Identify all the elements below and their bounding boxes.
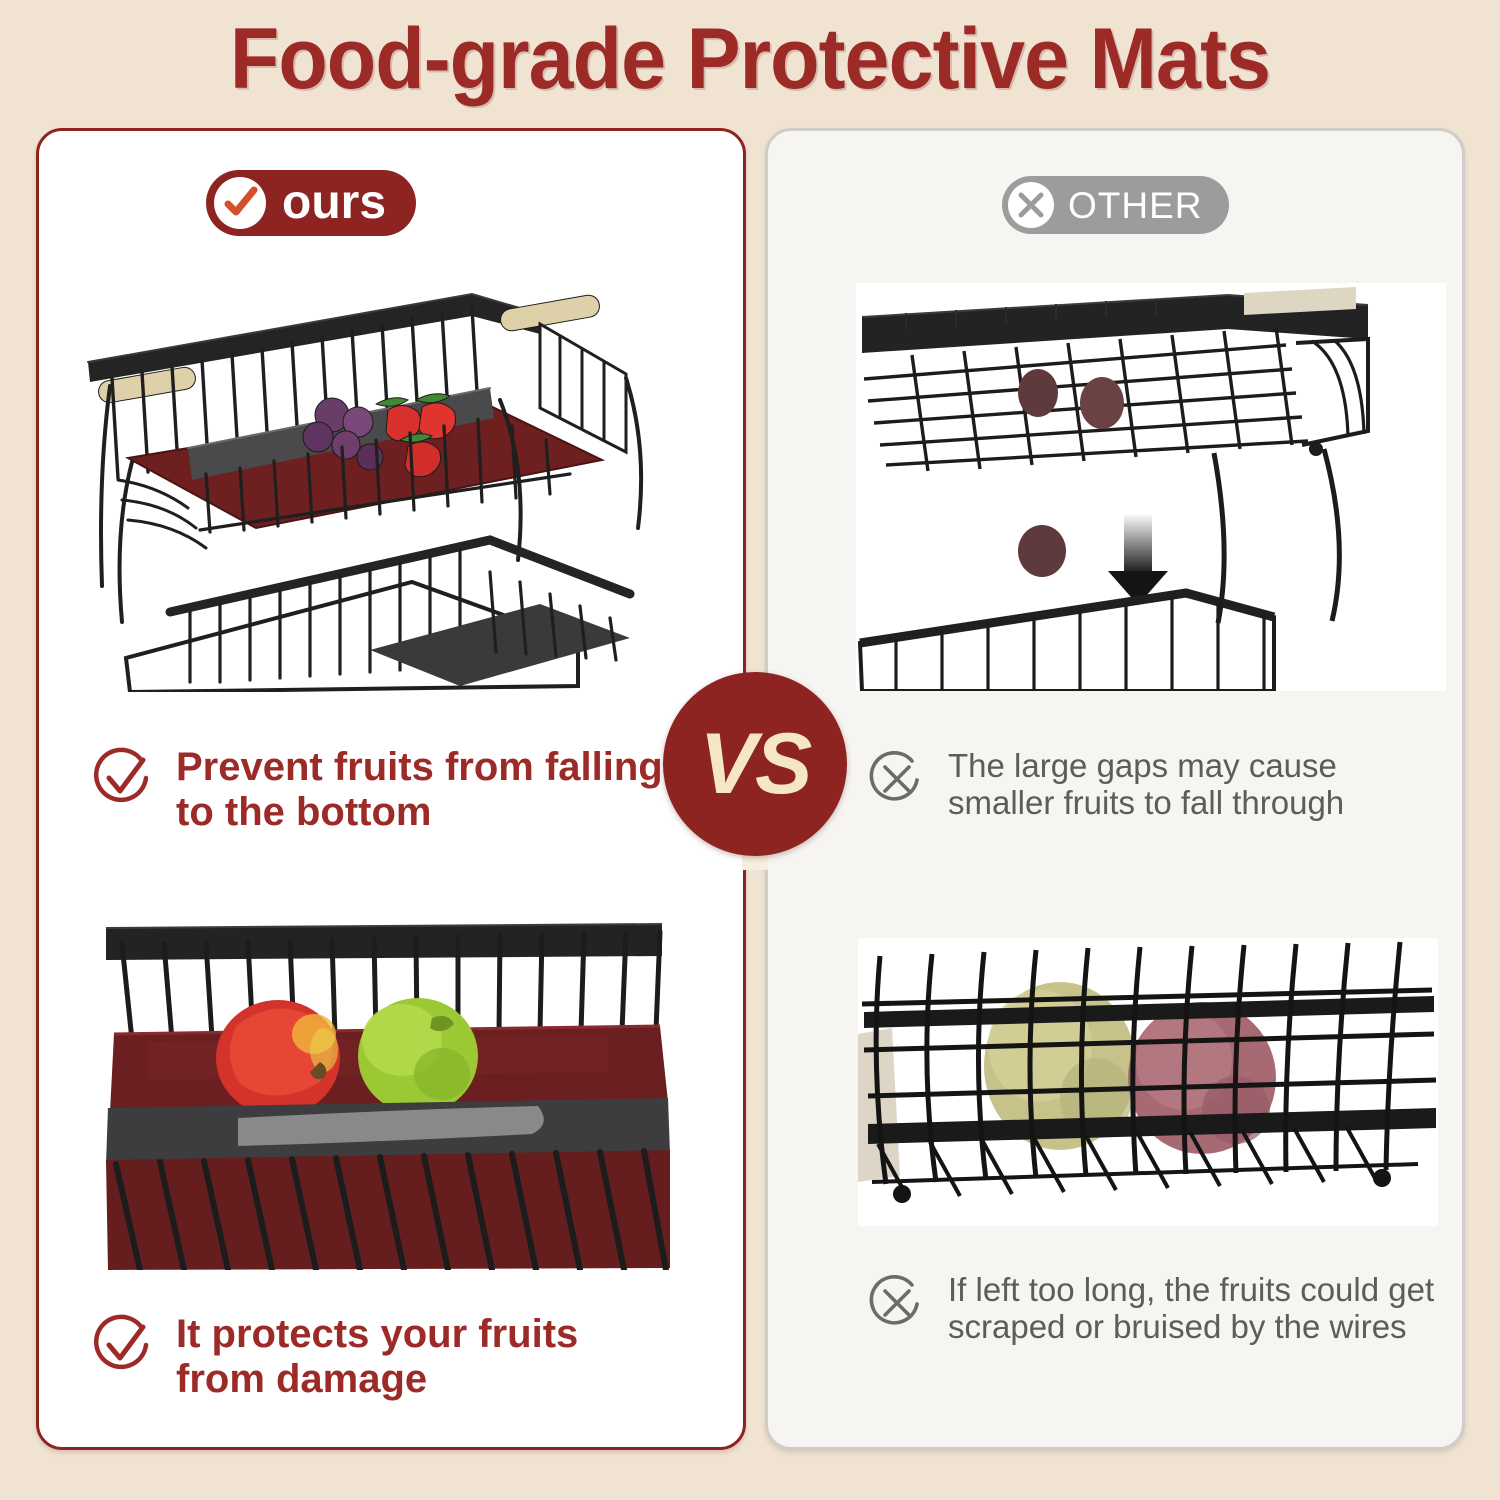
check-circle-icon (214, 177, 266, 229)
caption-ours-1-text: Prevent fruits from falling to the botto… (176, 745, 672, 835)
photo-grape-falling-through-gaps (856, 283, 1446, 691)
circle-x-outline-icon (868, 750, 926, 813)
circle-check-outline-icon (92, 1314, 154, 1381)
badge-ours[interactable]: ours (206, 170, 416, 236)
caption-ours-1: Prevent fruits from falling to the botto… (92, 745, 672, 835)
caption-other-1: The large gaps may cause smaller fruits … (868, 748, 1438, 822)
caption-ours-2-text: It protects your fruits from damage (176, 1312, 672, 1402)
caption-ours-2: It protects your fruits from damage (92, 1312, 672, 1402)
caption-other-2-text: If left too long, the fruits could get s… (948, 1272, 1438, 1346)
caption-other-2: If left too long, the fruits could get s… (868, 1272, 1438, 1346)
photo-apples-against-wire-grid (858, 938, 1438, 1226)
photo-apples-on-protective-mat (88, 922, 680, 1270)
circle-x-outline-icon (868, 1274, 926, 1337)
caption-other-1-text: The large gaps may cause smaller fruits … (948, 748, 1438, 822)
photo-two-tier-basket-with-mat (70, 282, 690, 692)
x-circle-icon (1008, 182, 1054, 228)
page-title: Food-grade Protective Mats (45, 10, 1455, 109)
badge-ours-label: ours (282, 179, 386, 227)
vs-label: VS (700, 721, 811, 807)
circle-check-outline-icon (92, 747, 154, 814)
badge-other-label: OTHER (1068, 187, 1203, 224)
vs-badge: VS (663, 672, 847, 856)
badge-other[interactable]: OTHER (1002, 176, 1229, 234)
